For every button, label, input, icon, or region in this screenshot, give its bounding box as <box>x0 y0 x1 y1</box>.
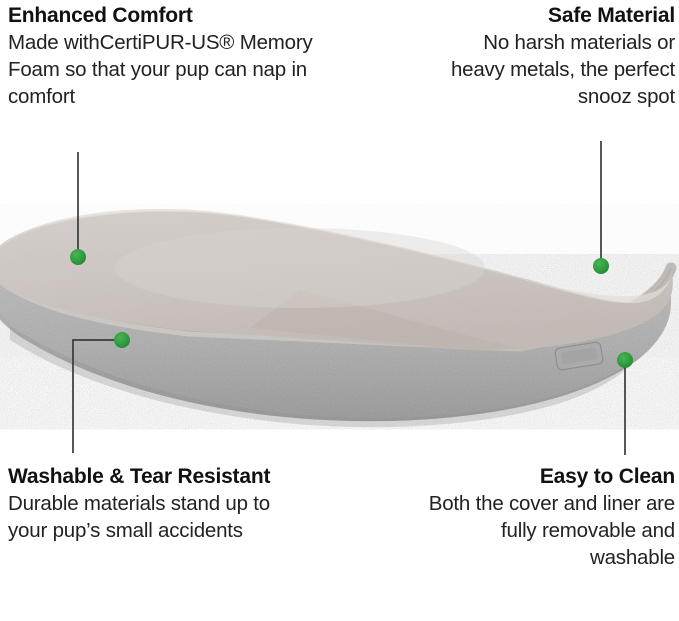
callout-body-washable-tear-resistant: Durable materials stand up to your pup’s… <box>8 491 308 544</box>
callout-dot-safe-material <box>593 258 609 274</box>
callout-dot-enhanced-comfort <box>70 249 86 265</box>
callout-title-safe-material: Safe Material <box>425 2 675 29</box>
callout-title-washable-tear-resistant: Washable & Tear Resistant <box>8 463 308 490</box>
callout-easy-to-clean: Easy to Clean Both the cover and liner a… <box>425 463 675 571</box>
callout-body-enhanced-comfort: Made withCertiPUR-US® Memory Foam so tha… <box>8 30 338 110</box>
callout-dot-washable-tear-resistant <box>114 332 130 348</box>
product-feature-infographic: Enhanced Comfort Made withCertiPUR-US® M… <box>0 0 679 621</box>
callout-title-enhanced-comfort: Enhanced Comfort <box>8 2 338 29</box>
callout-enhanced-comfort: Enhanced Comfort Made withCertiPUR-US® M… <box>8 2 338 110</box>
callout-dot-easy-to-clean <box>617 352 633 368</box>
callout-washable-tear-resistant: Washable & Tear Resistant Durable materi… <box>8 463 308 545</box>
callout-body-safe-material: No harsh materials or heavy metals, the … <box>425 30 675 110</box>
callout-safe-material: Safe Material No harsh materials or heav… <box>425 2 675 110</box>
callout-title-easy-to-clean: Easy to Clean <box>425 463 675 490</box>
callout-body-easy-to-clean: Both the cover and liner are fully remov… <box>425 491 675 571</box>
